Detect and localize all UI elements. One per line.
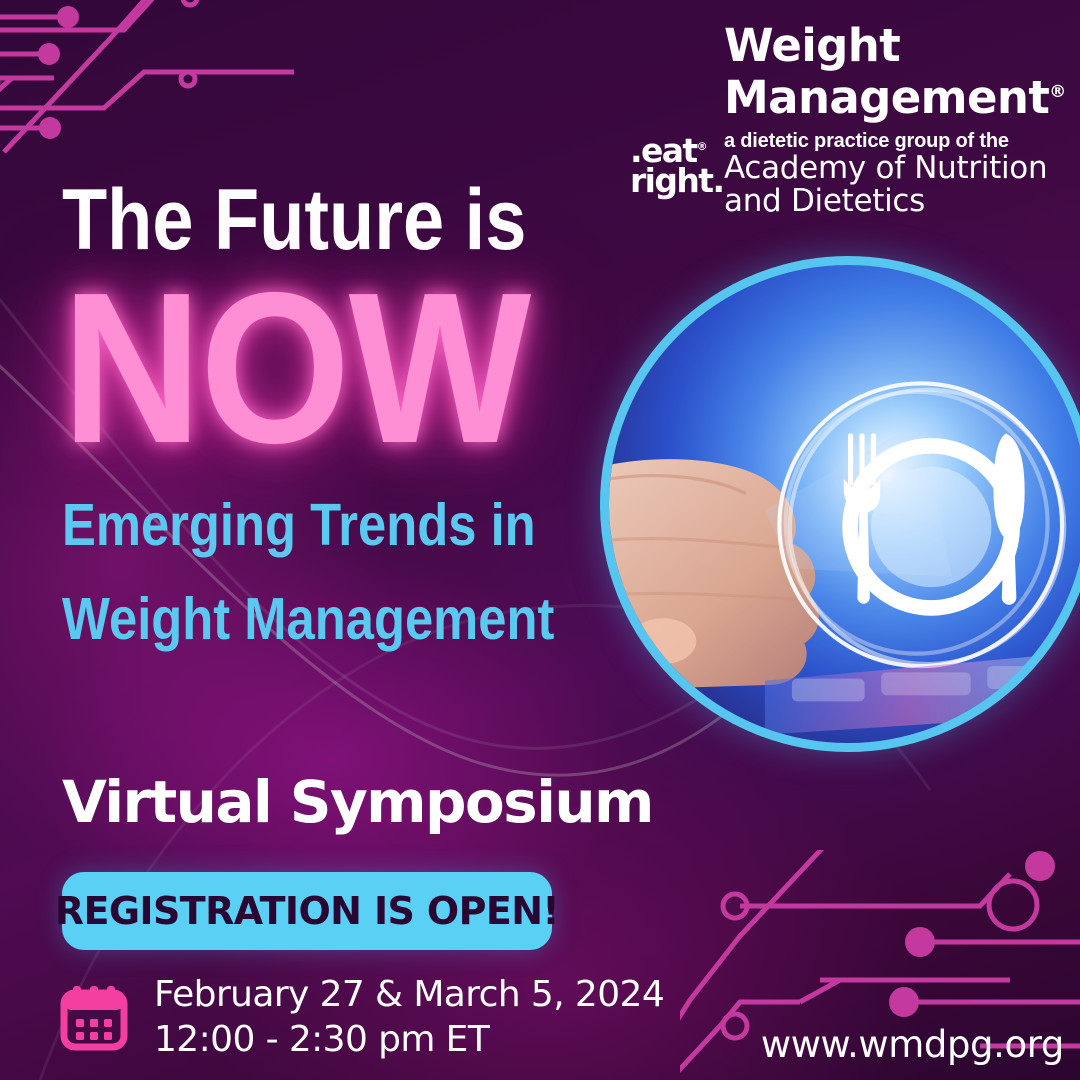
event-date-text: February 27 & March 5, 2024 12:00 - 2:30… [154, 972, 664, 1062]
registered-mark: ® [1049, 82, 1065, 102]
headline-now: NOW [62, 270, 566, 466]
registration-button-label: REGISTRATION IS OPEN! [55, 889, 559, 933]
event-time: 12:00 - 2:30 pm ET [154, 1017, 664, 1062]
promotional-poster: Weight Management® a dietetic practice g… [0, 0, 1080, 1080]
organization-logo-block: Weight Management® a dietetic practice g… [628, 22, 1068, 218]
event-dates: February 27 & March 5, 2024 [154, 972, 664, 1017]
photo-illustration [609, 265, 1080, 743]
academy-name-line1: Academy of Nutrition [724, 152, 1068, 185]
eat-right-registered-mark: ® [697, 140, 706, 153]
event-date-block: February 27 & March 5, 2024 12:00 - 2:30… [60, 972, 664, 1062]
org-name-line2: Management® [724, 69, 1068, 121]
circuit-decoration-top-left [0, 0, 294, 192]
org-name-line1: Weight [724, 22, 1068, 69]
org-name: Weight Management® [724, 22, 1068, 121]
academy-name-line2: and Dietetics [724, 185, 1068, 218]
eat-right-logo: .eat® right. [630, 132, 726, 196]
subtitle-line2: Weight Management [62, 584, 544, 654]
hero-text-block: The Future is NOW Emerging Trends in Wei… [62, 176, 622, 654]
subtitle-line1: Emerging Trends in [62, 490, 544, 560]
calendar-icon [60, 983, 128, 1051]
symposium-photo [600, 256, 1080, 752]
org-tagline: a dietetic practice group of the [724, 130, 1068, 152]
event-type-label: Virtual Symposium [62, 772, 653, 832]
website-url[interactable]: www.wmdpg.org [761, 1023, 1064, 1066]
registration-button[interactable]: REGISTRATION IS OPEN! [62, 872, 552, 950]
eat-right-line2: right. [630, 166, 726, 196]
